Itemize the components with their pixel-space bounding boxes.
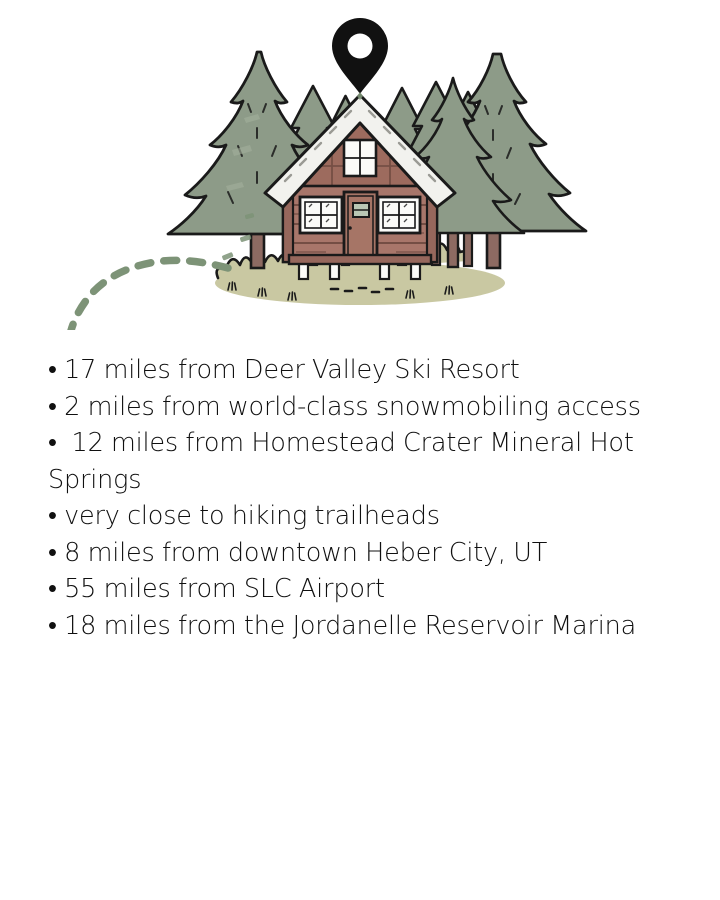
cabin-window-left [300,197,342,233]
list-item: • 12 miles from Homestead Crater Mineral… [48,425,688,498]
map-pin-icon [332,18,388,94]
cabin-door[interactable] [344,192,377,262]
list-item: • very close to hiking trailheads [48,498,688,535]
cabin-window-right [378,197,420,233]
dashed-trail-path [67,260,228,330]
list-item: • 55 miles from SLC Airport [48,571,688,608]
cabin-scene-svg [0,0,720,330]
cabin-porch-deck [289,255,431,264]
cabin-illustration [0,0,720,330]
list-item: • 18 miles from the Jordanelle Reservoir… [48,608,688,645]
attic-window [344,140,376,176]
list-item: • 17 miles from Deer Valley Ski Resort [48,352,688,389]
amenities-list: • 17 miles from Deer Valley Ski Resort •… [48,352,688,644]
list-item: • 8 miles from downtown Heber City, UT [48,535,688,572]
list-item: • 2 miles from world-class snowmobiling … [48,389,688,426]
